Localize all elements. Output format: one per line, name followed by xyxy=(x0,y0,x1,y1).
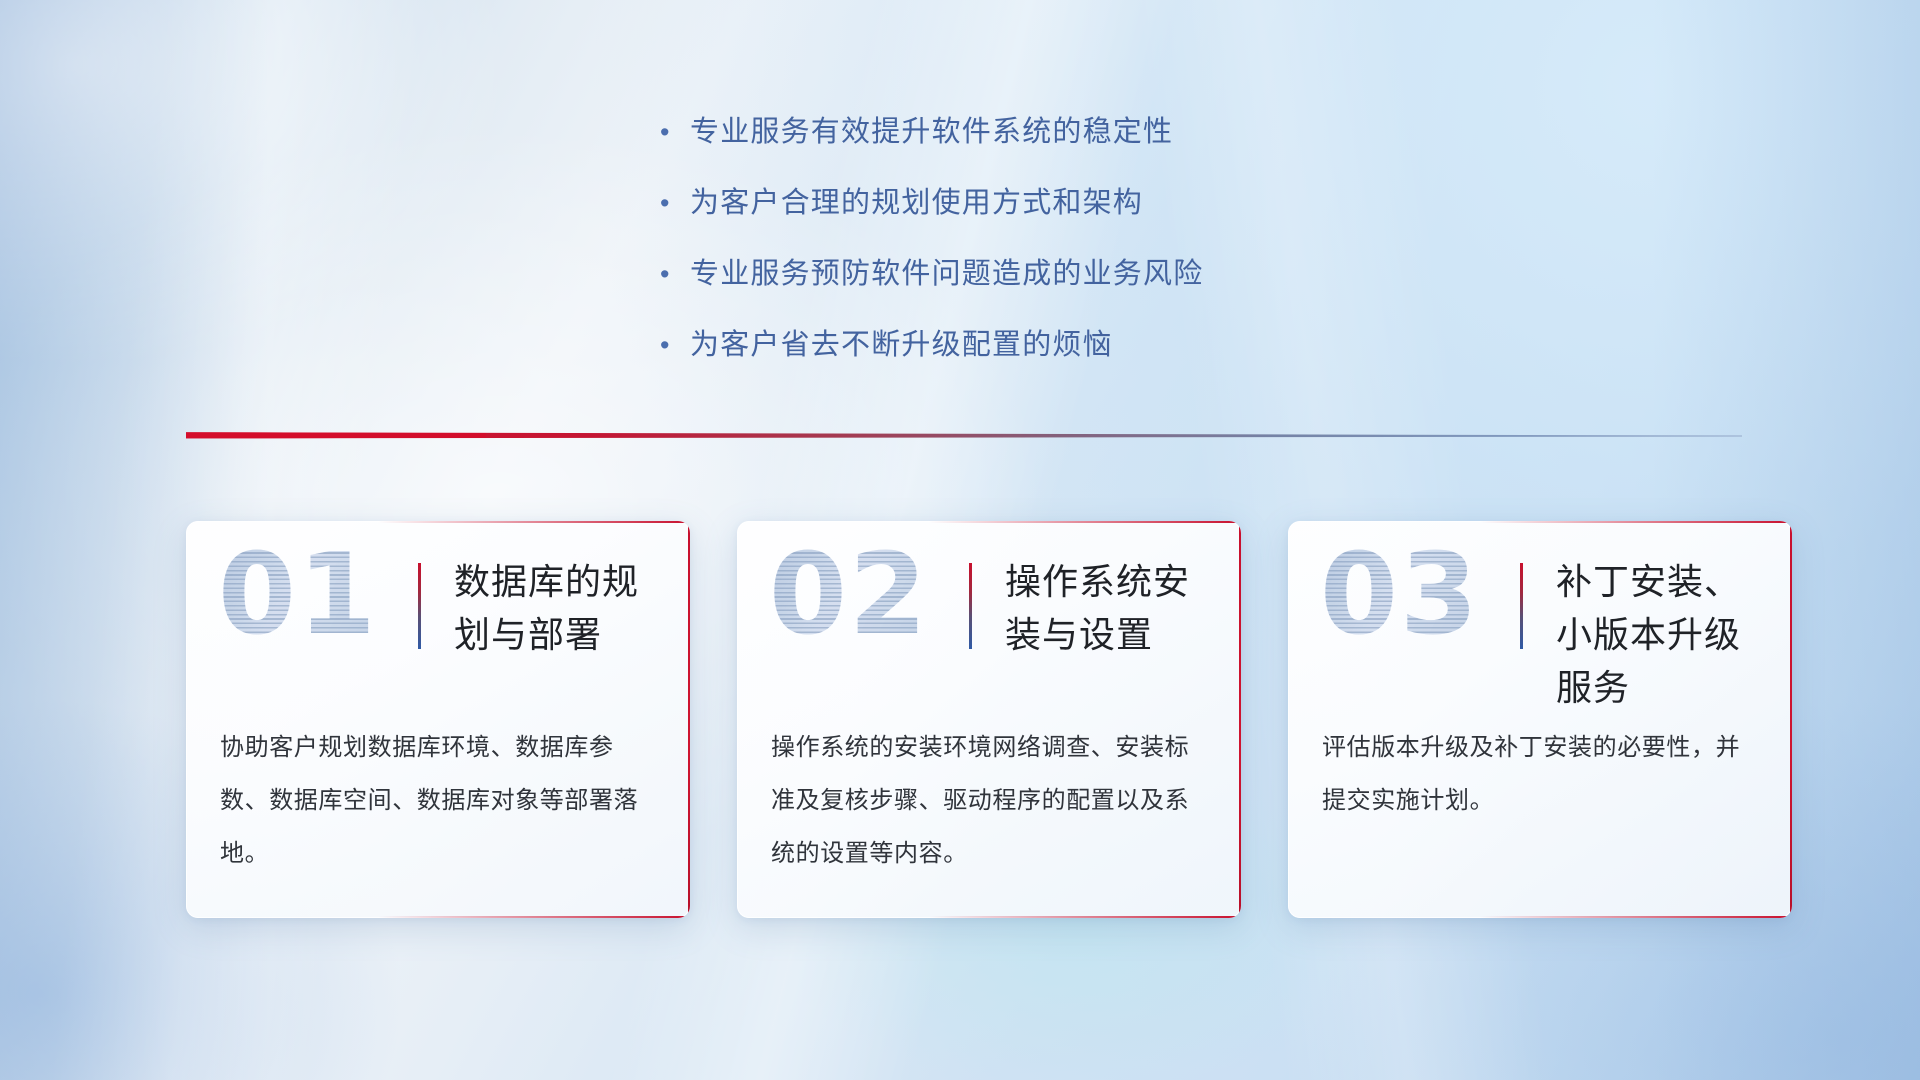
bullet-point-icon: • xyxy=(660,325,690,366)
bullet-point-icon: • xyxy=(660,112,690,153)
card-description: 协助客户规划数据库环境、数据库参数、数据库空间、数据库对象等部署落地。 xyxy=(220,721,660,880)
card-description: 评估版本升级及补丁安装的必要性，并提交实施计划。 xyxy=(1322,721,1762,827)
card-accent-edge-bottom xyxy=(1480,916,1792,918)
card-accent-edge-bottom xyxy=(378,916,690,918)
benefit-text: 为客户省去不断升级配置的烦恼 xyxy=(690,325,1113,366)
card-number-watermark: 01 xyxy=(218,539,378,651)
card-accent-edge-bottom xyxy=(929,916,1241,918)
card-description: 操作系统的安装环境网络调查、安装标准及复核步骤、驱动程序的配置以及系统的设置等内… xyxy=(771,721,1211,880)
benefit-text: 专业服务有效提升软件系统的稳定性 xyxy=(690,112,1173,153)
card-title-accent-bar xyxy=(969,563,972,649)
service-card-02[interactable]: 02 02 操作系统安装与设置 操作系统的安装环境网络调查、安装标准及复核步骤、… xyxy=(737,521,1241,918)
bullet-point-icon: • xyxy=(660,183,690,224)
card-title: 操作系统安装与设置 xyxy=(1005,555,1220,661)
tapered-divider-line xyxy=(186,427,1742,443)
benefit-text: 为客户合理的规划使用方式和架构 xyxy=(690,183,1143,224)
card-title: 补丁安装、小版本升级服务 xyxy=(1556,555,1771,714)
benefits-list: • 专业服务有效提升软件系统的稳定性 • 为客户合理的规划使用方式和架构 • 专… xyxy=(660,112,1203,396)
benefit-text: 专业服务预防软件问题造成的业务风险 xyxy=(690,254,1203,295)
card-header: 02 02 操作系统安装与设置 xyxy=(737,521,1241,696)
service-card-03[interactable]: 03 03 补丁安装、小版本升级服务 评估版本升级及补丁安装的必要性，并提交实施… xyxy=(1288,521,1792,918)
card-number-watermark: 03 xyxy=(1320,539,1480,651)
list-item: • 专业服务有效提升软件系统的稳定性 xyxy=(660,112,1203,153)
service-card-01[interactable]: 01 01 数据库的规划与部署 协助客户规划数据库环境、数据库参数、数据库空间、… xyxy=(186,521,690,918)
card-title: 数据库的规划与部署 xyxy=(454,555,669,661)
list-item: • 为客户省去不断升级配置的烦恼 xyxy=(660,325,1203,366)
card-number-watermark: 02 xyxy=(769,539,929,651)
card-header: 03 03 补丁安装、小版本升级服务 xyxy=(1288,521,1792,696)
card-header: 01 01 数据库的规划与部署 xyxy=(186,521,690,696)
card-title-accent-bar xyxy=(1520,563,1523,649)
bullet-point-icon: • xyxy=(660,254,690,295)
list-item: • 为客户合理的规划使用方式和架构 xyxy=(660,183,1203,224)
card-title-accent-bar xyxy=(418,563,421,649)
list-item: • 专业服务预防软件问题造成的业务风险 xyxy=(660,254,1203,295)
section-divider xyxy=(186,427,1742,443)
service-cards: 01 01 数据库的规划与部署 协助客户规划数据库环境、数据库参数、数据库空间、… xyxy=(0,521,1920,941)
